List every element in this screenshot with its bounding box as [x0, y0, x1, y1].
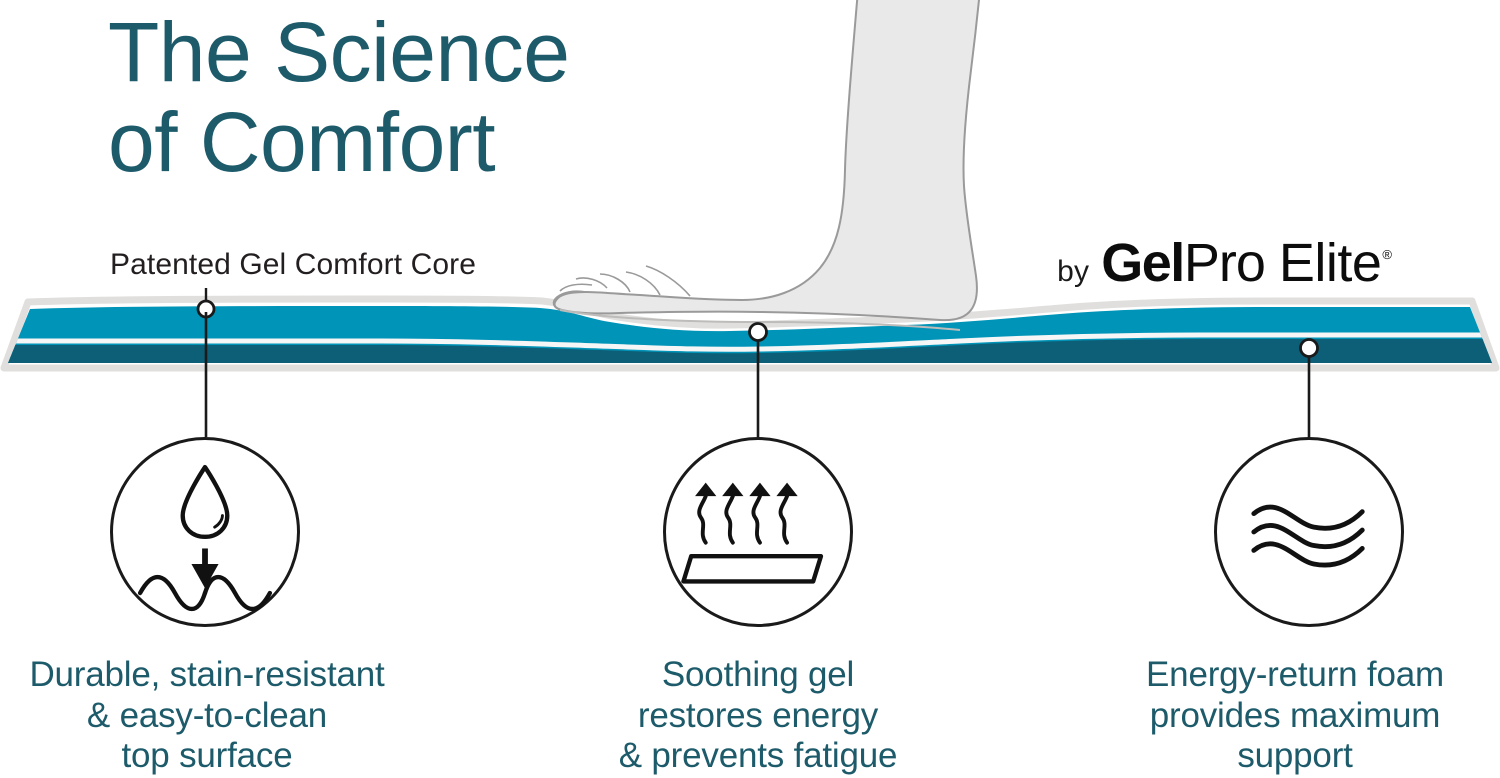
mat-plane-shape: [683, 556, 821, 581]
caption-soothing-gel: Soothing gel restores energy & prevents …: [543, 655, 973, 777]
caption-1-line-1: Durable, stain-resistant: [0, 655, 422, 696]
energy-arrow-head-3: [749, 483, 770, 497]
droplet-shine: [215, 516, 223, 528]
page-title-line-1: The Science: [108, 8, 728, 98]
energy-arrow-head-2: [722, 483, 743, 497]
caption-3-line-1: Energy-return foam: [1080, 655, 1500, 696]
callout-dot-3: [1301, 340, 1318, 357]
foam-wave-3: [1254, 544, 1362, 565]
caption-1-line-2: & easy-to-clean: [0, 696, 422, 737]
caption-3-line-2: provides maximum: [1080, 696, 1500, 737]
caption-2-line-3: & prevents fatigue: [543, 736, 973, 777]
brand-lockup: by Gel Pro Elite ®: [1057, 232, 1392, 294]
core-label: Patented Gel Comfort Core: [110, 248, 476, 282]
mat-top-layer: [0, 295, 1500, 375]
energy-arrow-head-4: [776, 483, 797, 497]
mat-bottom-layer: [0, 339, 1500, 420]
leader-line-2: [750, 324, 767, 438]
caption-energy-foam: Energy-return foam provides maximum supp…: [1080, 655, 1500, 777]
registered-trademark-icon: ®: [1382, 247, 1392, 262]
caption-2-line-2: restores energy: [543, 696, 973, 737]
energy-squiggle-1: [699, 496, 706, 542]
caption-2-line-1: Soothing gel: [543, 655, 973, 696]
brand-by-label: by: [1057, 255, 1089, 289]
mat-outer-edge: [4, 299, 1496, 368]
brand-name-gel: Gel: [1101, 232, 1184, 294]
leader-core-label: [198, 288, 214, 317]
mat-layers: [0, 295, 1500, 420]
water-wave-right: [205, 577, 270, 609]
brand-name-pro: Pro: [1184, 232, 1265, 294]
toe-line-2: [560, 284, 592, 291]
callout-dot-core: [198, 301, 214, 317]
page-title: The Science of Comfort: [108, 8, 728, 188]
infographic-canvas: The Science of Comfort Patented Gel Comf…: [0, 0, 1500, 778]
callout-circle-soothing-gel: [663, 437, 853, 627]
caption-1-line-3: top surface: [0, 736, 422, 777]
page-title-line-2: of Comfort: [108, 98, 728, 188]
sole-contour: [560, 310, 960, 330]
caption-durability: Durable, stain-resistant & easy-to-clean…: [0, 655, 422, 777]
energy-squiggle-4: [781, 496, 788, 542]
wavy-lines-foam-icon: [1217, 440, 1401, 624]
toe-line-5: [626, 272, 660, 295]
energy-arrow-head-1: [695, 483, 716, 497]
energy-arrows-mat-icon: [666, 440, 850, 624]
leader-line-3: [1301, 340, 1318, 438]
callout-dot-2: [750, 324, 767, 341]
water-droplet-repellent-icon: [113, 440, 297, 624]
energy-squiggle-2: [726, 496, 733, 542]
toe-line-1: [554, 291, 586, 310]
brand-name-elite: Elite: [1279, 232, 1382, 294]
caption-3-line-3: support: [1080, 736, 1500, 777]
callout-circle-energy-foam: [1214, 437, 1404, 627]
energy-squiggle-3: [753, 496, 760, 542]
mat-layer-separator: [0, 335, 1500, 349]
toe-line-3: [576, 278, 607, 288]
callout-circle-durability: [110, 437, 300, 627]
toe-line-4: [600, 274, 630, 292]
foot-arch-line: [646, 266, 690, 296]
droplet-shape: [183, 467, 228, 537]
water-wave-left: [140, 577, 205, 609]
